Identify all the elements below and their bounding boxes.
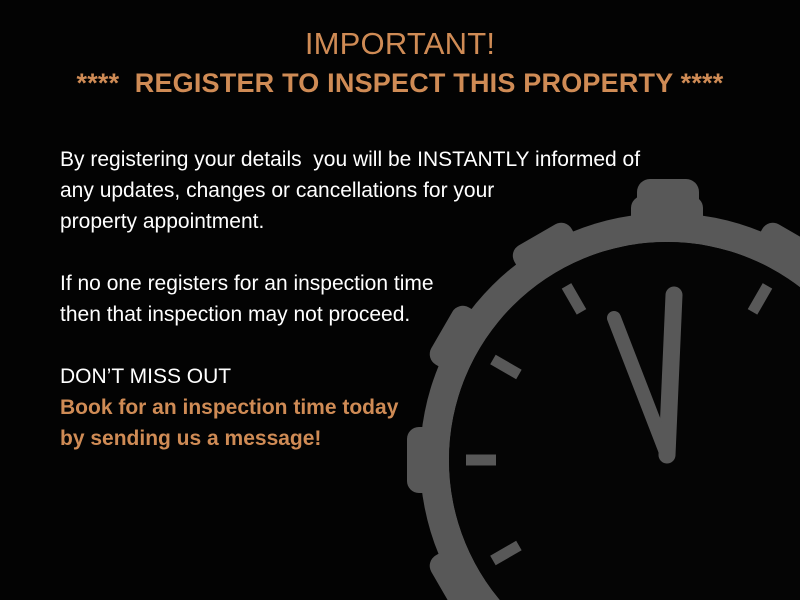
cta-book-inspection: Book for an inspection time today [60, 392, 720, 423]
heading-important: IMPORTANT! [0, 24, 800, 64]
body-block: By registering your details you will be … [60, 144, 720, 454]
slide-content: IMPORTANT! **** REGISTER TO INSPECT THIS… [0, 0, 800, 600]
paragraph-no-registration-warning: If no one registers for an inspection ti… [60, 268, 720, 330]
cta-send-message: by sending us a message! [60, 423, 720, 454]
heading-register-to-inspect: **** REGISTER TO INSPECT THIS PROPERTY *… [0, 64, 800, 102]
heading-block: IMPORTANT! **** REGISTER TO INSPECT THIS… [0, 24, 800, 102]
paragraph-registering-details: By registering your details you will be … [60, 144, 720, 237]
cta-dont-miss-out: DON’T MISS OUT [60, 361, 720, 392]
slide-canvas: IMPORTANT! **** REGISTER TO INSPECT THIS… [0, 0, 800, 600]
